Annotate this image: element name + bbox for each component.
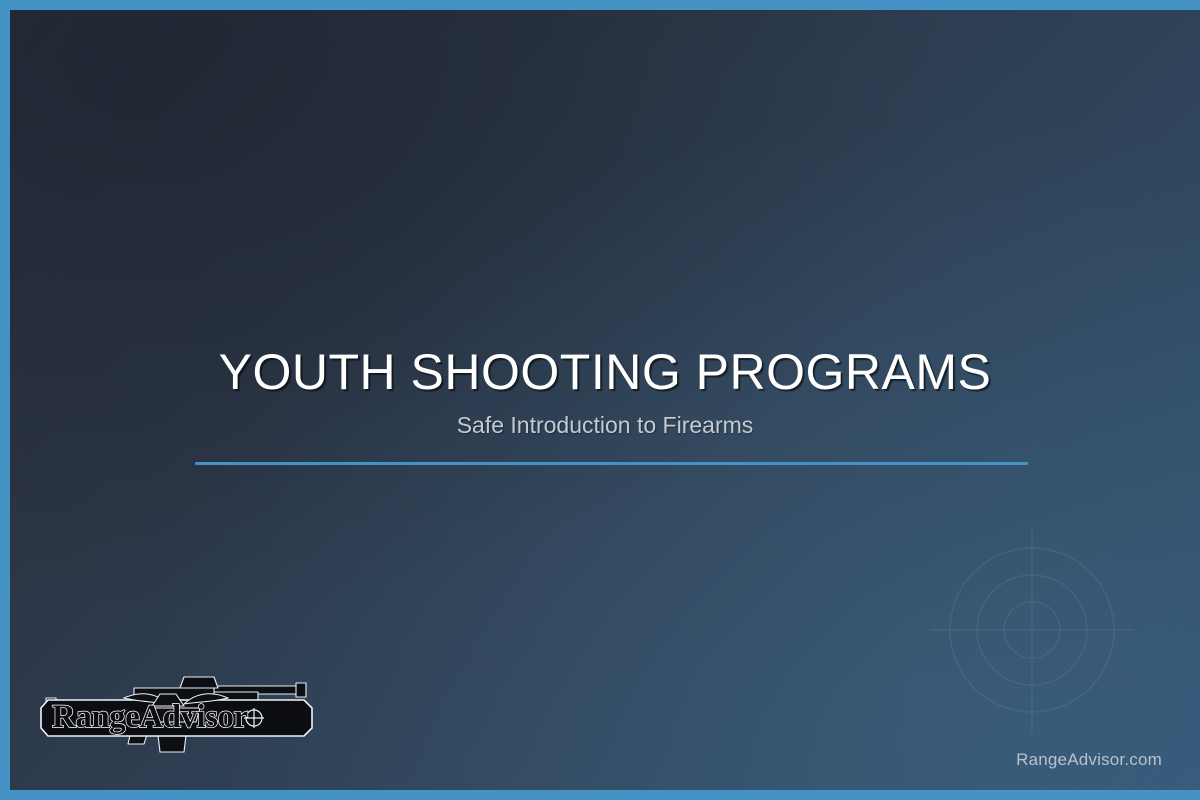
- presentation-slide: YOUTH SHOOTING PROGRAMS Safe Introductio…: [0, 0, 1200, 800]
- footer-url: RangeAdvisor.com: [1016, 750, 1162, 770]
- page-title: YOUTH SHOOTING PROGRAMS: [10, 346, 1200, 398]
- rangeadvisor-logo: RangeAdvisor: [38, 664, 314, 762]
- title-accent-rule: [195, 462, 1028, 465]
- svg-text:RangeAdvisor: RangeAdvisor: [52, 699, 248, 735]
- title-block: YOUTH SHOOTING PROGRAMS Safe Introductio…: [10, 346, 1200, 439]
- page-subtitle: Safe Introduction to Firearms: [10, 412, 1200, 439]
- crosshair-target-icon: [922, 520, 1142, 740]
- slide-canvas: YOUTH SHOOTING PROGRAMS Safe Introductio…: [10, 10, 1200, 790]
